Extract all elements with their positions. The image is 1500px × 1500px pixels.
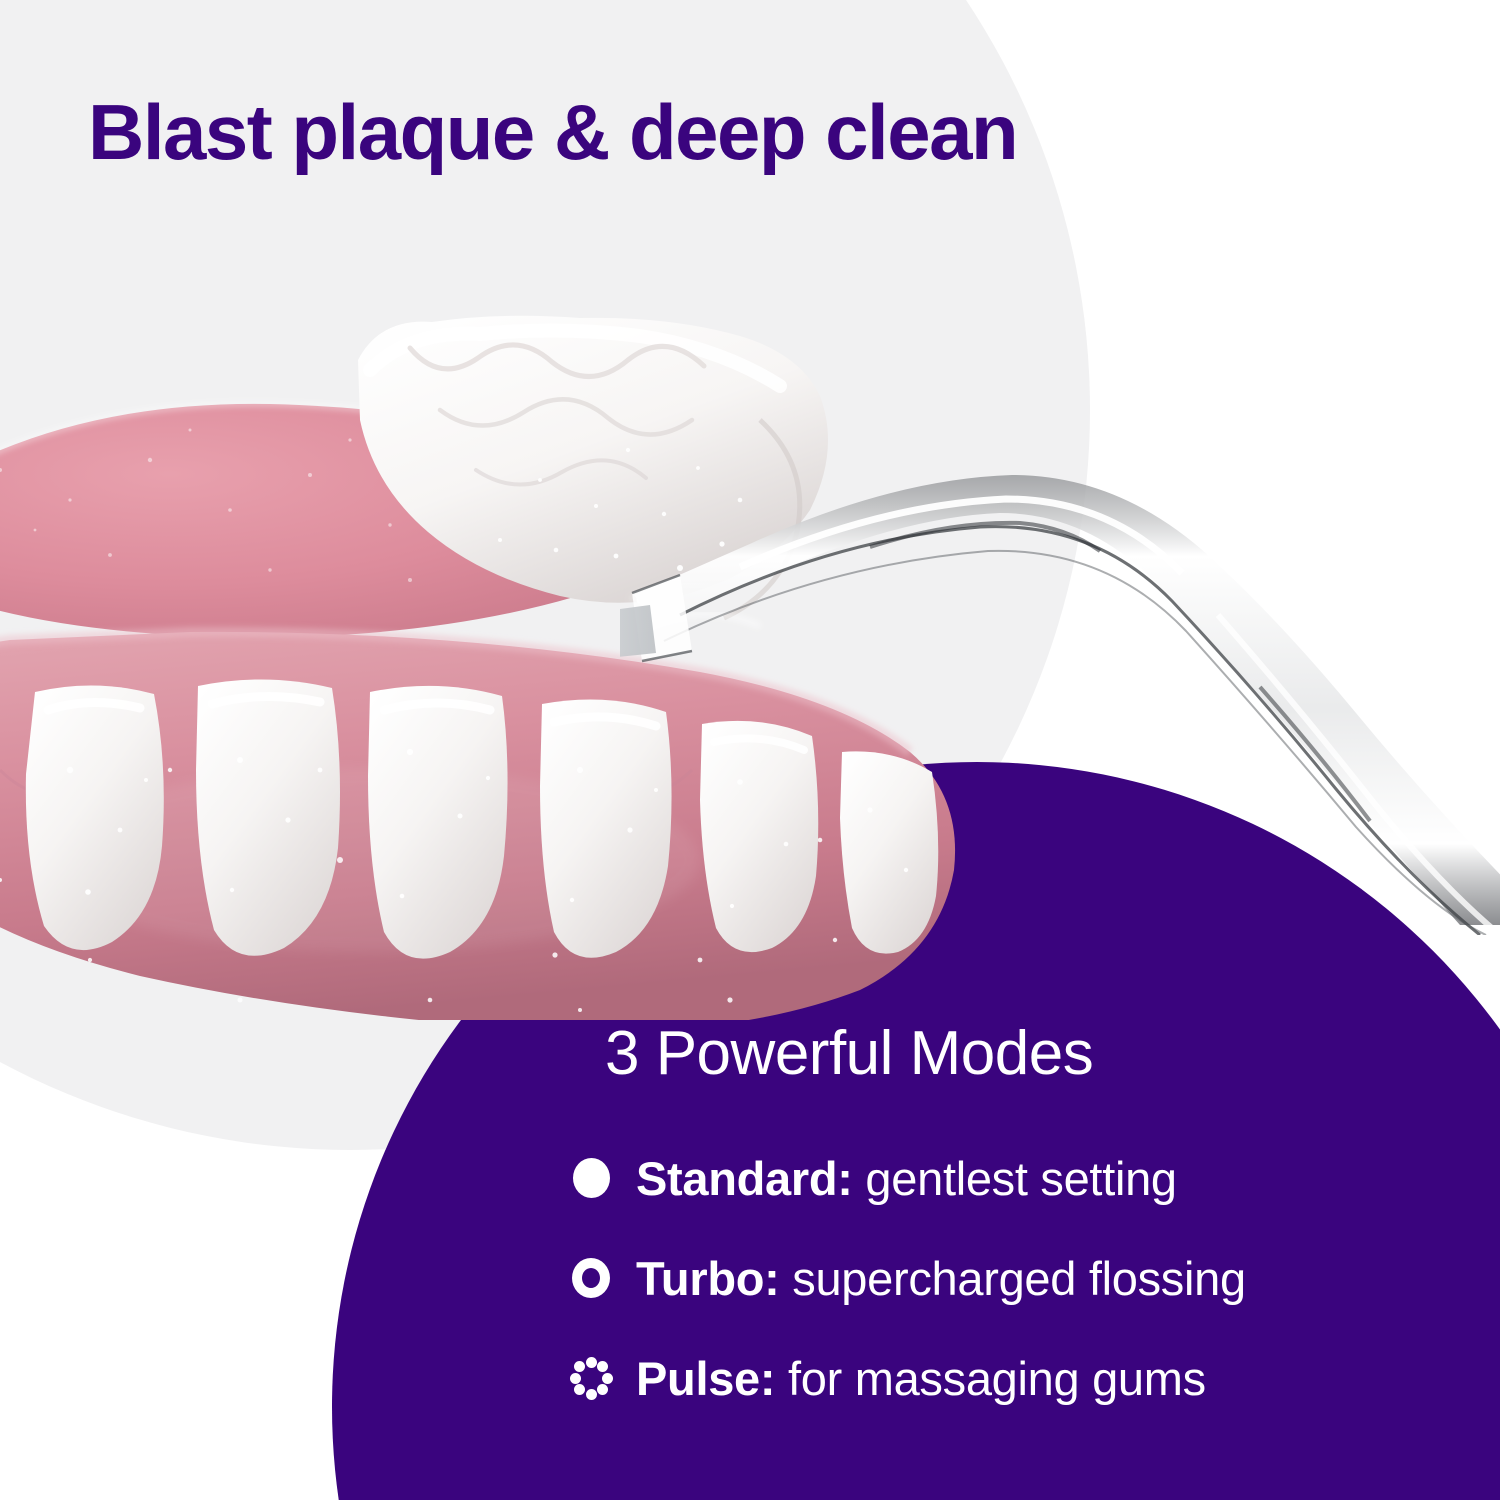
- mode-name: Pulse:: [636, 1352, 775, 1405]
- mode-name: Standard:: [636, 1152, 853, 1205]
- list-item: Pulse: for massaging gums: [560, 1328, 1460, 1428]
- mode-label: Pulse: for massaging gums: [636, 1351, 1206, 1406]
- modes-panel: 3 Powerful Modes Standard: gentlest sett…: [560, 1020, 1460, 1428]
- list-item: Standard: gentlest setting: [560, 1128, 1460, 1228]
- modes-title: 3 Powerful Modes: [605, 1020, 1460, 1088]
- marketing-banner: Blast plaque & deep clean 3 Powerful Mod…: [0, 0, 1500, 1500]
- mode-name: Turbo:: [636, 1252, 780, 1305]
- mode-label: Standard: gentlest setting: [636, 1151, 1177, 1206]
- pulse-dots-icon: [560, 1347, 622, 1409]
- ring-circle-icon: [560, 1247, 622, 1309]
- mode-description: gentlest setting: [865, 1152, 1176, 1205]
- page-title: Blast plaque & deep clean: [88, 92, 1448, 174]
- list-item: Turbo: supercharged flossing: [560, 1228, 1460, 1328]
- filled-circle-icon: [560, 1147, 622, 1209]
- mode-description: supercharged flossing: [792, 1252, 1246, 1305]
- modes-list: Standard: gentlest setting Turbo: superc…: [560, 1128, 1460, 1428]
- mode-label: Turbo: supercharged flossing: [636, 1251, 1246, 1306]
- mode-description: for massaging gums: [788, 1352, 1206, 1405]
